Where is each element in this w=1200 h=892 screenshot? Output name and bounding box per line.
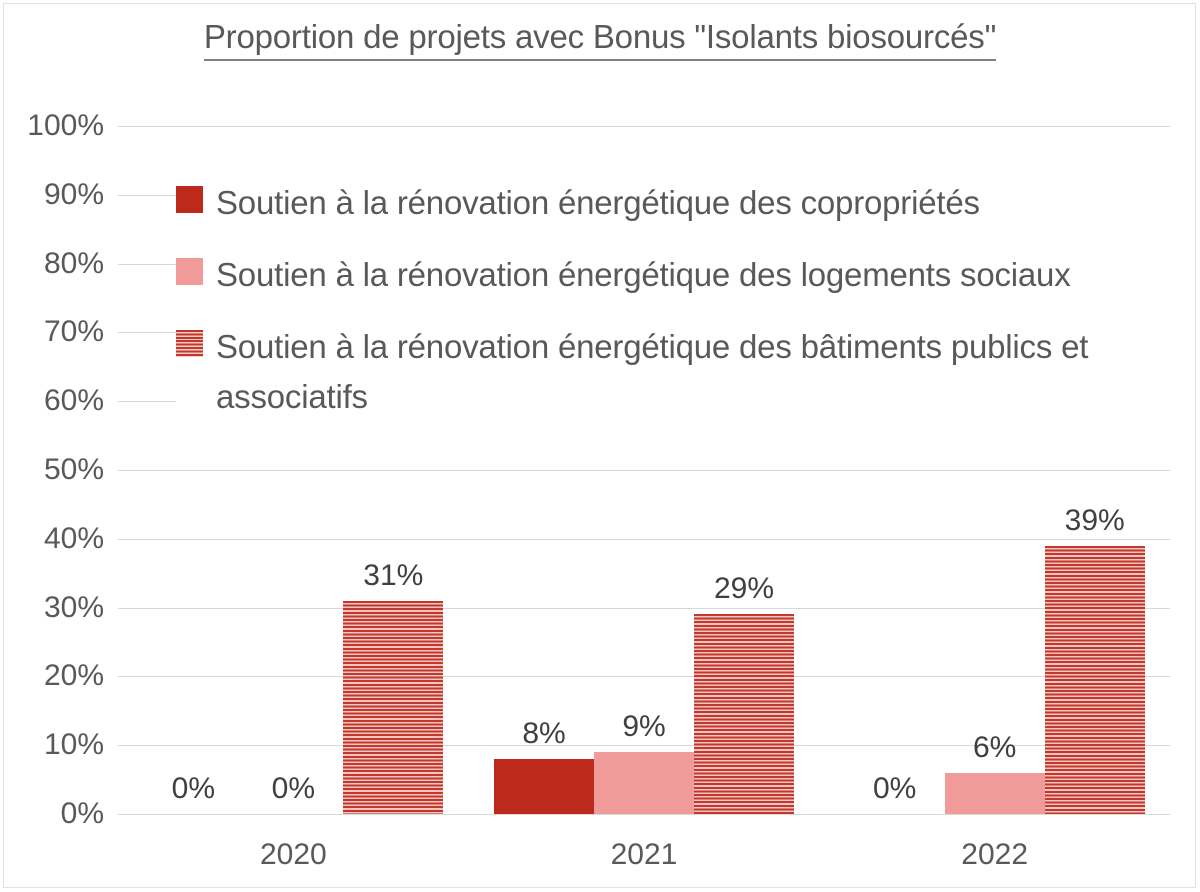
legend-item-label: Soutien à la rénovation énergétique des … xyxy=(216,178,980,228)
bar-2021-series-1[interactable] xyxy=(494,759,594,814)
y-axis-tick-label: 10% xyxy=(8,728,104,762)
striped-red-square-swatch xyxy=(176,330,203,357)
chart-title-text: Proportion de projets avec Bonus "Isolan… xyxy=(204,18,996,61)
y-axis-tick-label: 0% xyxy=(8,797,104,831)
gridline xyxy=(118,676,1170,677)
legend-item-label: Soutien à la rénovation énergétique des … xyxy=(216,250,1071,300)
bar-2021-series-3[interactable] xyxy=(694,614,794,814)
legend-item-1[interactable]: Soutien à la rénovation énergétique des … xyxy=(176,178,1176,228)
gridline xyxy=(118,470,1170,471)
bar-value-label: 31% xyxy=(363,559,423,593)
y-axis-tick-label: 80% xyxy=(8,247,104,281)
y-axis-tick-label: 60% xyxy=(8,384,104,418)
y-axis-tick-label: 30% xyxy=(8,591,104,625)
gridline xyxy=(118,608,1170,609)
y-axis-tick-label: 50% xyxy=(8,453,104,487)
chart-figure: Proportion de projets avec Bonus "Isolan… xyxy=(0,0,1200,892)
bar-value-label: 0% xyxy=(272,772,315,806)
y-axis-tick-label: 20% xyxy=(8,659,104,693)
x-axis-tick-label-2020: 2020 xyxy=(260,838,327,872)
chart-title: Proportion de projets avec Bonus "Isolan… xyxy=(0,18,1200,56)
x-axis-tick-label-2022: 2022 xyxy=(961,838,1028,872)
bar-2020-series-3[interactable] xyxy=(343,601,443,814)
y-axis-tick-label: 40% xyxy=(8,522,104,556)
y-axis-tick-label: 90% xyxy=(8,178,104,212)
bar-2022-series-3[interactable] xyxy=(1045,546,1145,814)
gridline xyxy=(118,126,1170,127)
bar-value-label: 6% xyxy=(973,731,1016,765)
chart-legend: Soutien à la rénovation énergétique des … xyxy=(176,178,1176,423)
legend-item-label: Soutien à la rénovation énergétique des … xyxy=(216,322,1176,422)
bar-2022-series-2[interactable] xyxy=(945,773,1045,814)
bar-value-label: 9% xyxy=(622,710,665,744)
x-axis-tick-label-2021: 2021 xyxy=(611,838,678,872)
gridline xyxy=(118,539,1170,540)
bar-value-label: 29% xyxy=(714,572,774,606)
legend-item-2[interactable]: Soutien à la rénovation énergétique des … xyxy=(176,250,1176,300)
bar-value-label: 0% xyxy=(172,772,215,806)
dark-red-square-swatch xyxy=(176,186,203,213)
y-axis-tick-label: 70% xyxy=(8,315,104,349)
gridline xyxy=(118,814,1170,815)
bar-value-label: 0% xyxy=(873,772,916,806)
legend-item-3[interactable]: Soutien à la rénovation énergétique des … xyxy=(176,322,1176,422)
bar-2021-series-2[interactable] xyxy=(594,752,694,814)
bar-value-label: 8% xyxy=(522,717,565,751)
pink-square-swatch xyxy=(176,258,203,285)
bar-value-label: 39% xyxy=(1065,504,1125,538)
y-axis-tick-label: 100% xyxy=(8,109,104,143)
